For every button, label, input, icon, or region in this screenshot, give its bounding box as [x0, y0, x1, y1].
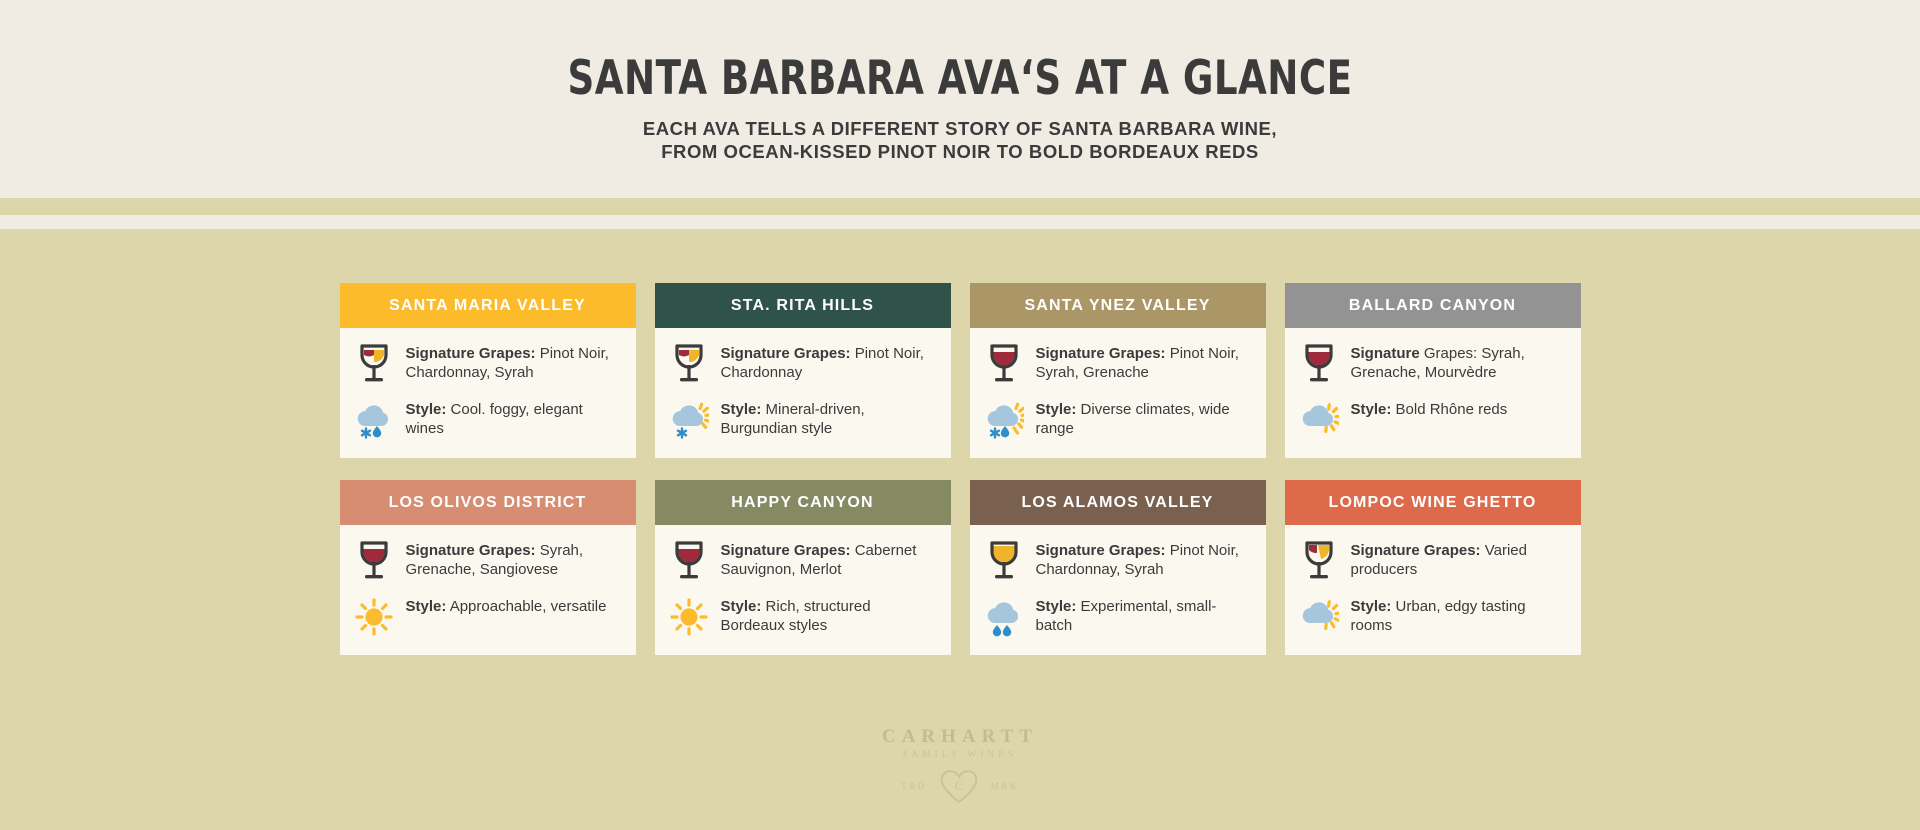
style-text: Style: Experimental, small-batch [1036, 595, 1248, 635]
style-row: Style: Experimental, small-batch [984, 595, 1248, 639]
wine-glass-split-icon [1299, 539, 1339, 583]
cloud-sun-icon [1299, 398, 1339, 442]
ava-card-body: Signature Grapes: Cabernet Sauvignon, Me… [655, 525, 951, 655]
ava-card-title: LOMPOC WINE GHETTO [1285, 480, 1581, 525]
grapes-row: Signature Grapes: Cabernet Sauvignon, Me… [669, 539, 933, 583]
page-subtitle: EACH AVA TELLS A DIFFERENT STORY OF SANT… [0, 117, 1920, 163]
cards-section: SANTA MARIA VALLEY Signature Grapes: Pin… [0, 229, 1920, 830]
wine-glass-red-icon [984, 342, 1024, 386]
brand-name: CARHARTT [0, 727, 1920, 747]
wine-glass-red-icon [354, 539, 394, 583]
ava-card[interactable]: SANTA MARIA VALLEY Signature Grapes: Pin… [340, 283, 636, 458]
style-text: Style: Urban, edgy tasting rooms [1351, 595, 1563, 635]
ava-card-title: LOS OLIVOS DISTRICT [340, 480, 636, 525]
ava-card[interactable]: LOS OLIVOS DISTRICT Signature Grapes: Sy… [340, 480, 636, 655]
grapes-text: Signature Grapes: Pinot Noir, Chardonnay… [406, 342, 618, 382]
wine-glass-white-icon [984, 539, 1024, 583]
wine-glass-red-icon [669, 539, 709, 583]
heart-icon: C [936, 766, 982, 806]
style-text: Style: Bold Rhône reds [1351, 398, 1508, 420]
grapes-row: Signature Grapes: Pinot Noir, Chardonnay [669, 342, 933, 386]
ava-card-body: Signature Grapes: Pinot Noir, Chardonnay… [655, 328, 951, 458]
grapes-text: Signature Grapes: Pinot Noir, Syrah, Gre… [1036, 342, 1248, 382]
ava-card-title: SANTA YNEZ VALLEY [970, 283, 1266, 328]
cloud-sun-snow-icon [669, 398, 709, 442]
trademark-left-label: TRD [901, 781, 927, 791]
brand-tagline: FAMILY WINES [0, 750, 1920, 761]
page-title: SANTA BARBARA AVA‘S AT A GLANCE [115, 0, 1805, 103]
svg-text:C: C [954, 778, 963, 793]
ava-card-title: HAPPY CANYON [655, 480, 951, 525]
divider-stripe-cream [0, 215, 1920, 229]
cloud-sun-icon [1299, 595, 1339, 639]
style-text: Style: Rich, structured Bordeaux styles [721, 595, 933, 635]
grapes-row: Signature Grapes: Syrah, Grenache, Mourv… [1299, 342, 1563, 386]
ava-card[interactable]: LOS ALAMOS VALLEY Signature Grapes: Pino… [970, 480, 1266, 655]
style-row: Style: Diverse climates, wide range [984, 398, 1248, 442]
ava-card-title: STA. RITA HILLS [655, 283, 951, 328]
grapes-text: Signature Grapes: Varied producers [1351, 539, 1563, 579]
style-text: Style: Mineral-driven, Burgundian style [721, 398, 933, 438]
grapes-row: Signature Grapes: Varied producers [1299, 539, 1563, 583]
infographic-page: SANTA BARBARA AVA‘S AT A GLANCE EACH AVA… [0, 0, 1920, 830]
style-text: Style: Approachable, versatile [406, 595, 607, 617]
grapes-text: Signature Grapes: Pinot Noir, Chardonnay… [1036, 539, 1248, 579]
ava-card-title: LOS ALAMOS VALLEY [970, 480, 1266, 525]
sun-icon [354, 595, 394, 639]
ava-card-title: BALLARD CANYON [1285, 283, 1581, 328]
ava-card-body: Signature Grapes: Pinot Noir, Syrah, Gre… [970, 328, 1266, 458]
grapes-text: Signature Grapes: Syrah, Grenache, Mourv… [1351, 342, 1563, 382]
ava-card-body: Signature Grapes: Syrah, Grenache, Mourv… [1285, 328, 1581, 458]
grapes-row: Signature Grapes: Pinot Noir, Chardonnay… [354, 342, 618, 386]
ava-card-grid: SANTA MARIA VALLEY Signature Grapes: Pin… [335, 229, 1585, 655]
wine-glass-red-gold-icon [354, 342, 394, 386]
ava-card[interactable]: STA. RITA HILLS Signature Grapes: Pinot … [655, 283, 951, 458]
grapes-text: Signature Grapes: Cabernet Sauvignon, Me… [721, 539, 933, 579]
grapes-text: Signature Grapes: Pinot Noir, Chardonnay [721, 342, 933, 382]
ava-card-body: Signature Grapes: Syrah, Grenache, Sangi… [340, 525, 636, 655]
subtitle-line-2: FROM OCEAN-KISSED PINOT NOIR TO BOLD BOR… [661, 141, 1259, 162]
ava-card[interactable]: HAPPY CANYON Signature Grapes: Cabernet … [655, 480, 951, 655]
grapes-row: Signature Grapes: Pinot Noir, Chardonnay… [984, 539, 1248, 583]
ava-card[interactable]: BALLARD CANYON Signature Grapes: Syrah, … [1285, 283, 1581, 458]
sun-icon [669, 595, 709, 639]
wine-glass-red-gold-icon [669, 342, 709, 386]
ava-card-body: Signature Grapes: Pinot Noir, Chardonnay… [340, 328, 636, 458]
style-text: Style: Cool. foggy, elegant wines [406, 398, 618, 438]
style-row: Style: Cool. foggy, elegant wines [354, 398, 618, 442]
brand-footer: CARHARTT FAMILY WINES TRD C MRK [0, 727, 1920, 806]
style-row: Style: Urban, edgy tasting rooms [1299, 595, 1563, 639]
style-row: Style: Bold Rhône reds [1299, 398, 1563, 442]
cloud-rain-icon [984, 595, 1024, 639]
ava-card[interactable]: SANTA YNEZ VALLEY Signature Grapes: Pino… [970, 283, 1266, 458]
header-banner: SANTA BARBARA AVA‘S AT A GLANCE EACH AVA… [0, 0, 1920, 198]
grapes-text: Signature Grapes: Syrah, Grenache, Sangi… [406, 539, 618, 579]
ava-card[interactable]: LOMPOC WINE GHETTO Signature Grapes: Var… [1285, 480, 1581, 655]
wine-glass-red-icon [1299, 342, 1339, 386]
trademark-right-label: MRK [991, 781, 1019, 791]
divider-stripe-tan [0, 198, 1920, 215]
brand-heart-mark: TRD C MRK [0, 766, 1920, 806]
ava-card-body: Signature Grapes: Pinot Noir, Chardonnay… [970, 525, 1266, 655]
grapes-row: Signature Grapes: Syrah, Grenache, Sangi… [354, 539, 618, 583]
style-text: Style: Diverse climates, wide range [1036, 398, 1248, 438]
cloud-snow-rain-icon [354, 398, 394, 442]
subtitle-line-1: EACH AVA TELLS A DIFFERENT STORY OF SANT… [643, 118, 1277, 139]
ava-card-title: SANTA MARIA VALLEY [340, 283, 636, 328]
grapes-row: Signature Grapes: Pinot Noir, Syrah, Gre… [984, 342, 1248, 386]
style-row: Style: Rich, structured Bordeaux styles [669, 595, 933, 639]
style-row: Style: Approachable, versatile [354, 595, 618, 639]
style-row: Style: Mineral-driven, Burgundian style [669, 398, 933, 442]
cloud-sun-snow-rain-icon [984, 398, 1024, 442]
ava-card-body: Signature Grapes: Varied producers Style… [1285, 525, 1581, 655]
